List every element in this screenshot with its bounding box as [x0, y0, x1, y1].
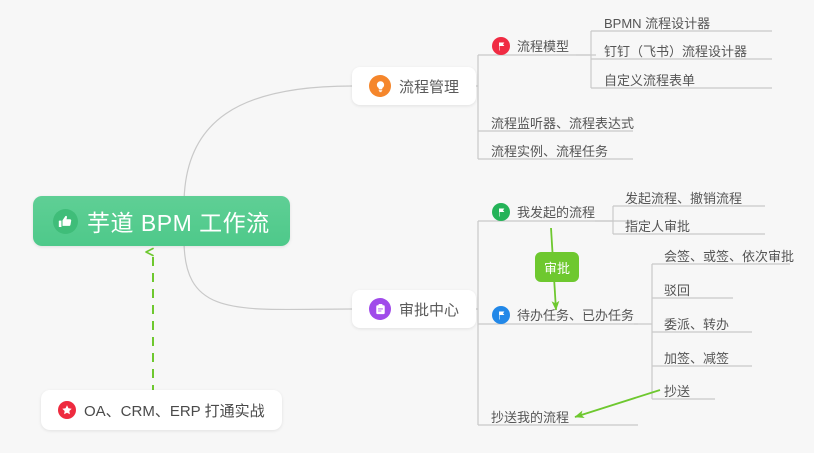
flag-icon [492, 306, 510, 324]
branch-label-process-management: 流程管理 [399, 76, 459, 97]
node-custom-process-form[interactable]: 自定义流程表单 [604, 65, 695, 91]
node-designated-approver[interactable]: 指定人审批 [625, 211, 690, 237]
label-bpmn-designer: BPMN 流程设计器 [604, 15, 710, 32]
star-icon [58, 401, 76, 419]
label-custom-process-form: 自定义流程表单 [604, 72, 695, 89]
connector-cc-to-my-processes [575, 390, 660, 417]
node-bpmn-designer[interactable]: BPMN 流程设计器 [604, 8, 710, 34]
node-dingtalk-feishu-designer[interactable]: 钉钉（飞书）流程设计器 [604, 36, 747, 62]
node-cc-to-me-processes[interactable]: 抄送我的流程 [491, 402, 569, 428]
node-start-cancel-process[interactable]: 发起流程、撤销流程 [625, 183, 742, 209]
branch-node-process-management[interactable]: 流程管理 [352, 67, 476, 105]
label-countersign-orsign-sequential: 会签、或签、依次审批 [664, 248, 794, 265]
node-delegate-transfer[interactable]: 委派、转办 [664, 309, 729, 335]
flag-icon [492, 37, 510, 55]
label-carbon-copy: 抄送 [664, 383, 690, 400]
node-todo-done-tasks[interactable]: 待办任务、已办任务 [492, 300, 634, 326]
node-process-instance-task[interactable]: 流程实例、流程任务 [491, 136, 608, 162]
label-delegate-transfer: 委派、转办 [664, 316, 729, 333]
thumbs-up-icon [53, 209, 78, 234]
label-process-model: 流程模型 [517, 38, 569, 55]
lightbulb-icon [369, 75, 391, 97]
label-my-started-processes: 我发起的流程 [517, 204, 595, 221]
label-dingtalk-feishu-designer: 钉钉（飞书）流程设计器 [604, 43, 747, 60]
node-process-listener-expression[interactable]: 流程监听器、流程表达式 [491, 108, 634, 134]
annotation-approval-tag-label: 审批 [544, 258, 570, 277]
node-add-remove-sign[interactable]: 加签、减签 [664, 343, 729, 369]
node-process-model[interactable]: 流程模型 [492, 31, 569, 57]
node-reject[interactable]: 驳回 [664, 275, 690, 301]
root-node-label: 芋道 BPM 工作流 [87, 204, 270, 238]
bottom-note-label: OA、CRM、ERP 打通实战 [84, 400, 265, 421]
bottom-note-node[interactable]: OA、CRM、ERP 打通实战 [41, 390, 282, 430]
label-add-remove-sign: 加签、减签 [664, 350, 729, 367]
node-my-started-processes[interactable]: 我发起的流程 [492, 197, 595, 223]
annotation-approval-tag: 审批 [535, 252, 579, 282]
label-process-listener-expression: 流程监听器、流程表达式 [491, 115, 634, 132]
branch-label-approval-center: 审批中心 [399, 299, 459, 320]
label-process-instance-task: 流程实例、流程任务 [491, 143, 608, 160]
node-carbon-copy[interactable]: 抄送 [664, 376, 690, 402]
node-countersign-orsign-sequential[interactable]: 会签、或签、依次审批 [664, 241, 794, 267]
mindmap-canvas: 芋道 BPM 工作流 OA、CRM、ERP 打通实战 流程管理 流程模型 [0, 0, 814, 453]
flag-icon [492, 203, 510, 221]
clipboard-icon [369, 298, 391, 320]
root-node[interactable]: 芋道 BPM 工作流 [33, 196, 290, 246]
label-reject: 驳回 [664, 282, 690, 299]
label-start-cancel-process: 发起流程、撤销流程 [625, 190, 742, 207]
branch-node-approval-center[interactable]: 审批中心 [352, 290, 476, 328]
label-designated-approver: 指定人审批 [625, 218, 690, 235]
label-todo-done-tasks: 待办任务、已办任务 [517, 307, 634, 324]
label-cc-to-me-processes: 抄送我的流程 [491, 409, 569, 426]
